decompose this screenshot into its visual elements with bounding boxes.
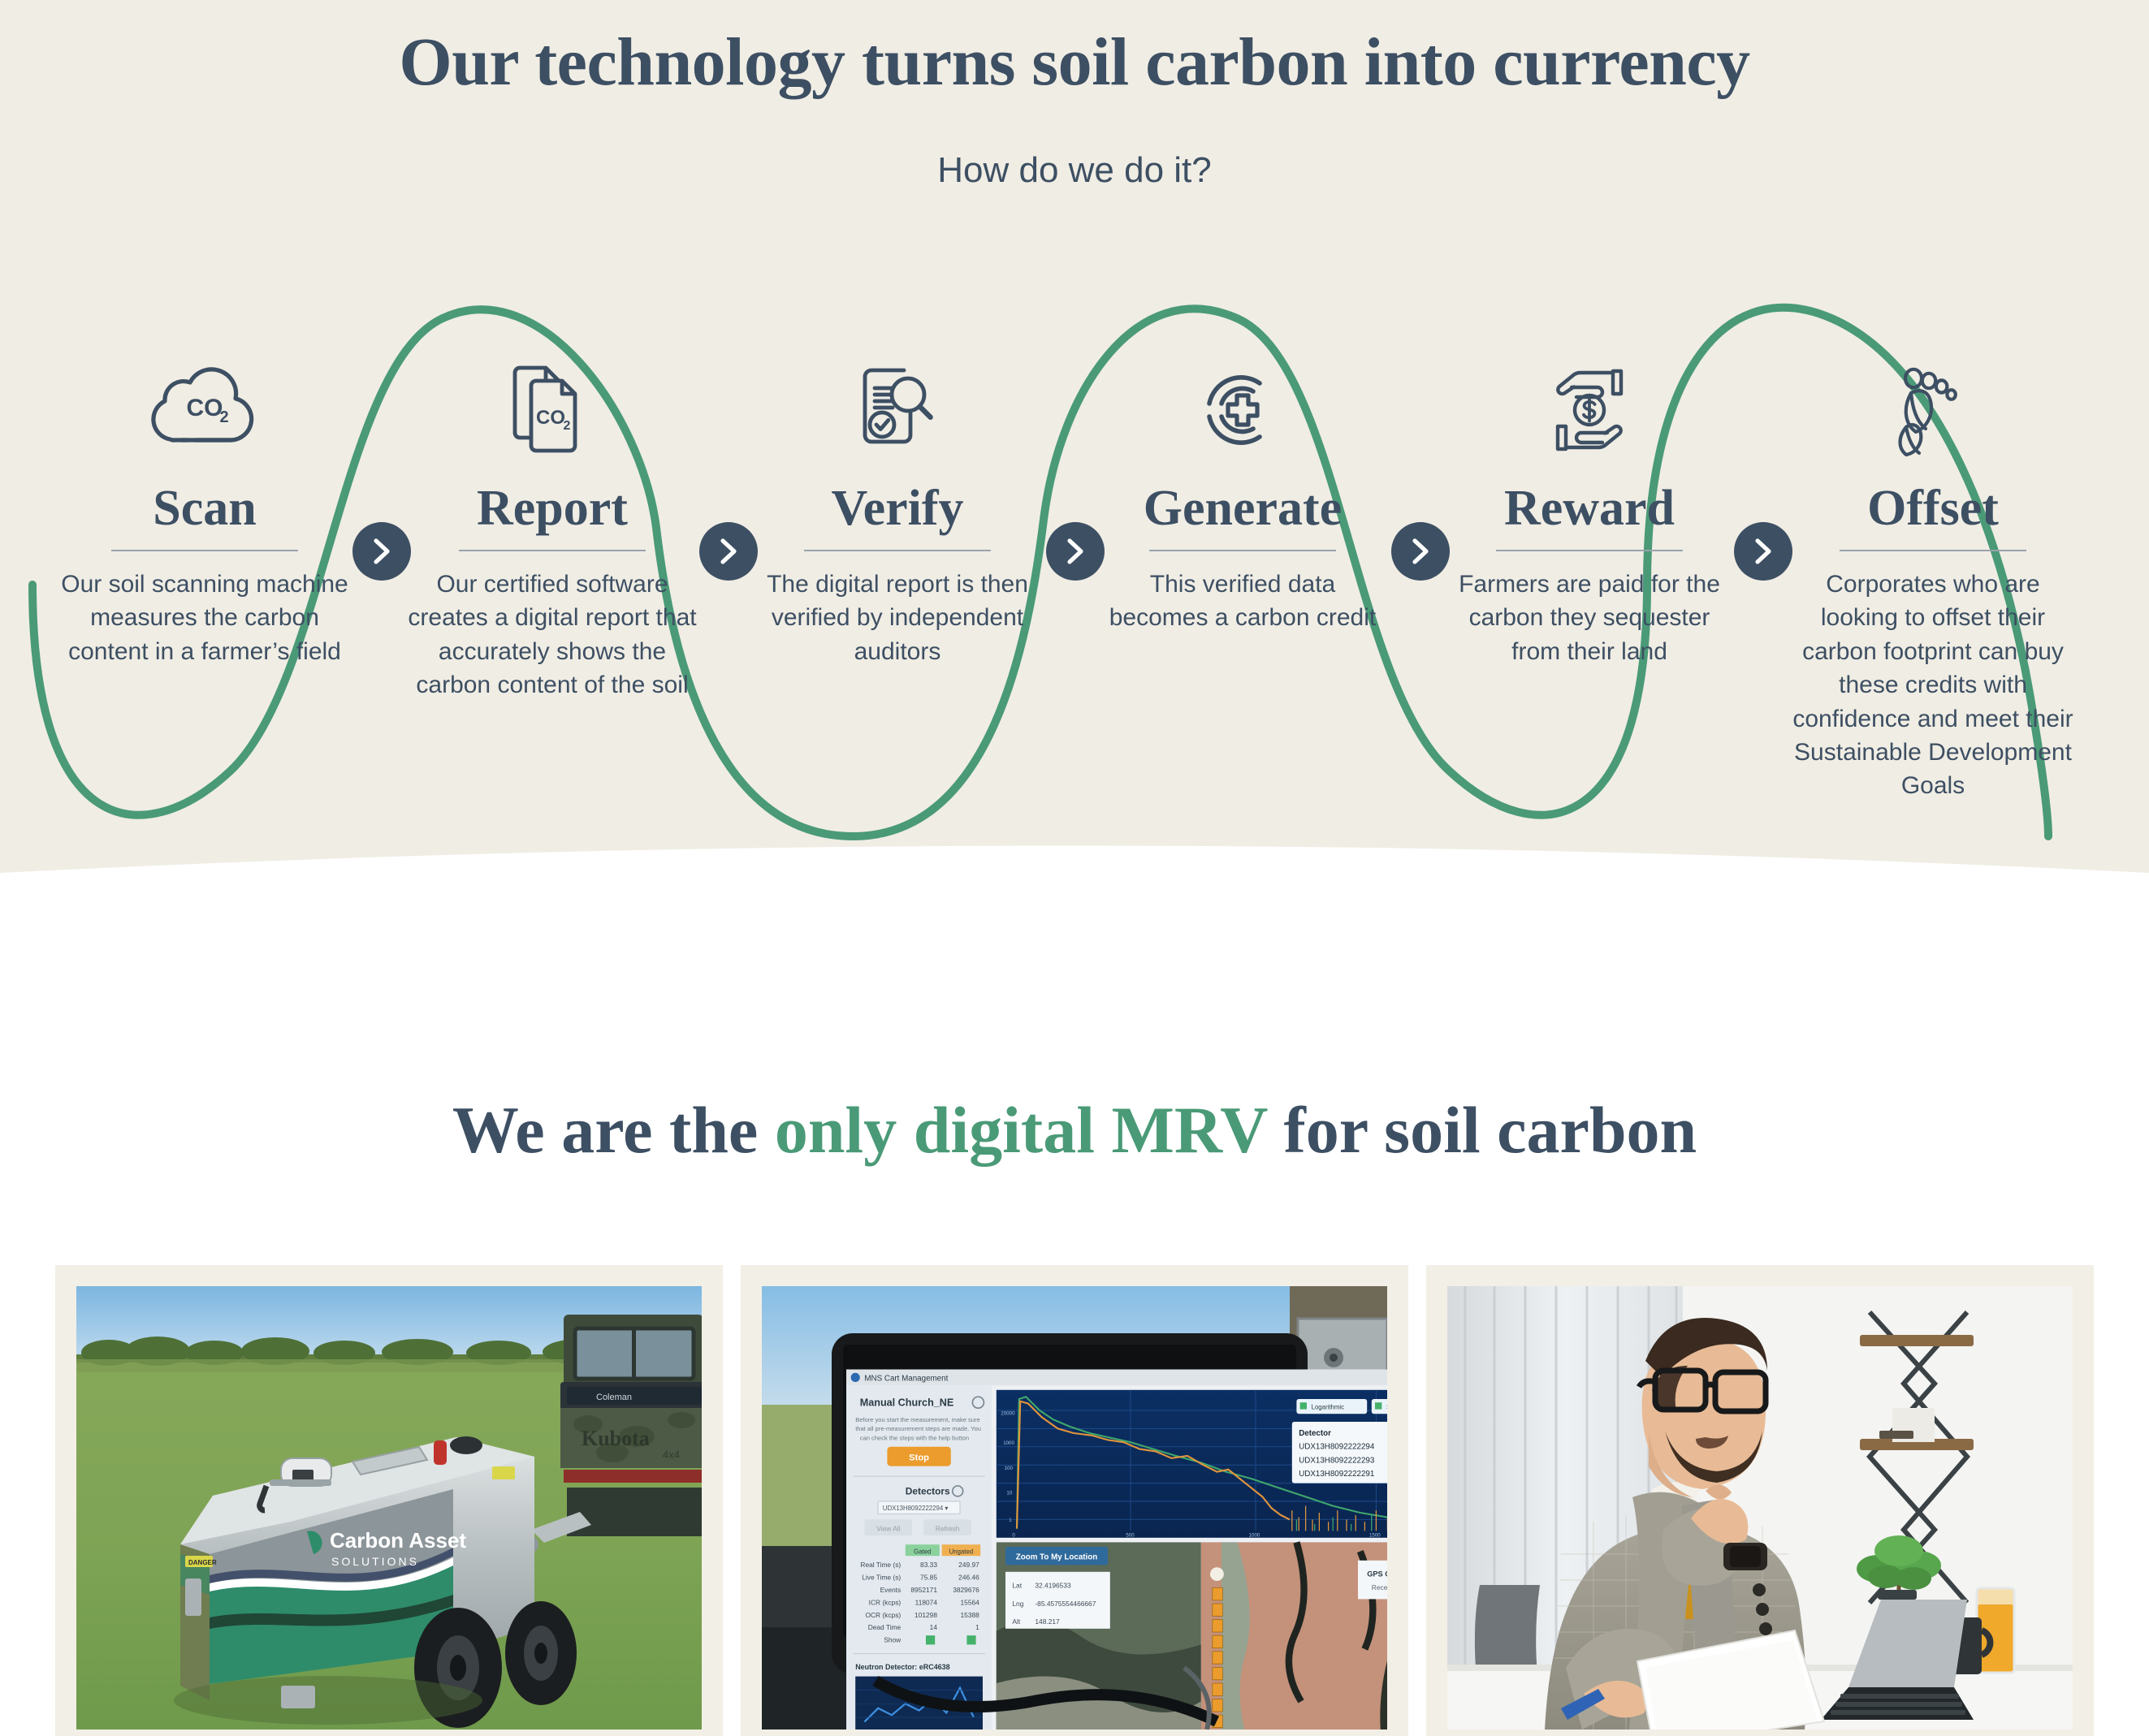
image-card-soil-scanner[interactable]: Coleman Kubota 4x4 <box>55 1265 723 1736</box>
step-description: Our soil scanning machine measures the c… <box>42 568 367 668</box>
svg-text:OCR (kcps): OCR (kcps) <box>865 1611 901 1619</box>
step-divider <box>804 550 991 551</box>
step-divider <box>1149 550 1336 551</box>
svg-text:14: 14 <box>930 1623 938 1631</box>
svg-text:Show Peak Area: Show Peak Area <box>1386 1404 1387 1411</box>
step-title: Offset <box>1771 482 2095 535</box>
section2-title: We are the only digital MRV for soil car… <box>0 1092 2149 1168</box>
step-description: The digital report is then verified by i… <box>735 568 1060 668</box>
svg-text:Coleman: Coleman <box>596 1393 632 1402</box>
svg-text:-85.4575554466667: -85.4575554466667 <box>1035 1600 1096 1608</box>
svg-text:that all pre-measurement steps: that all pre-measurement steps are made.… <box>855 1425 981 1432</box>
svg-text:32.4196533: 32.4196533 <box>1035 1581 1071 1589</box>
step-arrow-2[interactable] <box>699 522 758 581</box>
chevron-right-icon <box>716 536 741 567</box>
hands-dollar-coin-icon <box>1427 357 1752 463</box>
svg-text:Logarithmic: Logarithmic <box>1312 1404 1345 1411</box>
svg-text:249.97: 249.97 <box>958 1561 979 1569</box>
svg-text:Detector: Detector <box>1299 1429 1331 1438</box>
svg-text:8952171: 8952171 <box>910 1586 937 1594</box>
svg-text:Events: Events <box>880 1586 902 1594</box>
svg-text:4x4: 4x4 <box>663 1449 680 1461</box>
svg-text:Dead Time: Dead Time <box>868 1623 902 1631</box>
svg-text:UDX13H8092222294 ▾: UDX13H8092222294 ▾ <box>883 1505 949 1512</box>
step-title: Report <box>390 482 715 535</box>
svg-text:GPS Configuration: GPS Configuration <box>1367 1570 1387 1578</box>
page-title: Our technology turns soil carbon into cu… <box>0 23 2149 101</box>
svg-text:View All: View All <box>876 1524 900 1532</box>
svg-text:Show: Show <box>884 1636 902 1644</box>
svg-text:DANGER: DANGER <box>188 1559 217 1566</box>
image-card-corporate-buyer[interactable] <box>1426 1265 2094 1736</box>
image-card-row: Coleman Kubota 4x4 <box>0 1265 2149 1736</box>
svg-text:0: 0 <box>1012 1532 1015 1538</box>
svg-text:3829676: 3829676 <box>953 1586 979 1594</box>
image-card-cart-management-software[interactable]: RSO 24HR 431 388 218 <box>741 1265 1408 1736</box>
step-divider <box>459 550 646 551</box>
process-steps: CO 2 Scan Our soil scanning machine meas… <box>0 357 2149 861</box>
step-arrow-3[interactable] <box>1046 522 1105 581</box>
hero-section: Our technology turns soil carbon into cu… <box>0 0 2149 918</box>
svg-text:2: 2 <box>219 408 228 426</box>
svg-text:Neutron Detector: eRC4638: Neutron Detector: eRC4638 <box>855 1663 949 1671</box>
document-magnifier-check-icon <box>735 357 1060 463</box>
svg-text:1500: 1500 <box>1369 1532 1381 1538</box>
svg-text:SOLUTIONS: SOLUTIONS <box>331 1555 419 1568</box>
svg-text:Ungated: Ungated <box>949 1548 974 1555</box>
svg-text:100: 100 <box>1005 1466 1014 1471</box>
svg-text:UDX13H8092222294: UDX13H8092222294 <box>1299 1443 1375 1452</box>
step-divider <box>1840 550 2026 551</box>
svg-text:MNS Cart Management: MNS Cart Management <box>864 1375 948 1384</box>
chevron-right-icon <box>370 536 394 567</box>
step-divider <box>111 550 298 551</box>
svg-text:15388: 15388 <box>961 1611 980 1619</box>
svg-text:Lat: Lat <box>1012 1581 1022 1589</box>
svg-text:Stop: Stop <box>909 1453 929 1463</box>
svg-text:1: 1 <box>975 1623 979 1631</box>
page-root: Our technology turns soil carbon into cu… <box>0 0 2149 1736</box>
svg-text:2: 2 <box>564 419 571 433</box>
co2-documents-icon: CO 2 <box>390 357 715 463</box>
svg-text:Receiving at COM1 9600: Receiving at COM1 9600 <box>1372 1583 1387 1591</box>
svg-text:101298: 101298 <box>915 1611 937 1619</box>
svg-text:20000: 20000 <box>1001 1411 1015 1417</box>
process-step-scan: CO 2 Scan Our soil scanning machine meas… <box>42 357 367 668</box>
svg-text:1000: 1000 <box>1003 1440 1014 1446</box>
svg-text:15564: 15564 <box>961 1598 980 1606</box>
leaf-footprint-icon <box>1771 357 2095 463</box>
svg-text:Refresh: Refresh <box>936 1524 960 1532</box>
chevron-right-icon <box>1408 536 1433 567</box>
svg-text:CO: CO <box>187 395 223 421</box>
svg-text:83.33: 83.33 <box>920 1561 937 1569</box>
co2-cloud-icon: CO 2 <box>42 357 367 463</box>
svg-text:246.46: 246.46 <box>958 1574 979 1582</box>
step-title: Verify <box>735 482 1060 535</box>
step-description: Farmers are paid for the carbon they seq… <box>1427 568 1752 668</box>
step-arrow-5[interactable] <box>1734 522 1792 581</box>
svg-text:Lng: Lng <box>1012 1600 1023 1608</box>
step-description: Corporates who are looking to offset the… <box>1771 568 2095 803</box>
svg-text:10: 10 <box>1006 1491 1012 1496</box>
svg-text:118074: 118074 <box>915 1598 938 1606</box>
step-title: Reward <box>1427 482 1752 535</box>
process-step-verify: Verify The digital report is then verifi… <box>735 357 1060 668</box>
svg-text:ICR (kcps): ICR (kcps) <box>869 1598 902 1606</box>
svg-text:Before you start the measureme: Before you start the measurement, make s… <box>855 1416 980 1423</box>
section2-title-part1: We are the <box>452 1093 775 1167</box>
svg-text:Real Time (s): Real Time (s) <box>860 1561 901 1569</box>
process-step-offset: Offset Corporates who are looking to off… <box>1771 357 2095 803</box>
svg-text:Alt: Alt <box>1012 1617 1020 1626</box>
section2-title-part2: for soil carbon <box>1267 1093 1697 1167</box>
svg-text:can check the steps with the h: can check the steps with the help button <box>860 1434 969 1441</box>
section2-title-accent: only digital MRV <box>775 1093 1267 1167</box>
step-arrow-1[interactable] <box>352 522 411 581</box>
process-step-reward: Reward Farmers are paid for the carbon t… <box>1427 357 1752 668</box>
page-subtitle: How do we do it? <box>0 150 2149 191</box>
svg-text:Live Time (s): Live Time (s) <box>862 1574 901 1582</box>
corporate-buyer-photo <box>1447 1286 2073 1730</box>
svg-text:148.217: 148.217 <box>1035 1617 1060 1626</box>
svg-text:Manual Church_NE: Manual Church_NE <box>860 1397 953 1408</box>
process-step-report: CO 2 Report Our certified software creat… <box>390 357 715 702</box>
step-description: This verified data becomes a carbon cred… <box>1080 568 1405 635</box>
svg-text:1: 1 <box>1009 1518 1012 1523</box>
svg-text:UDX13H8092222291: UDX13H8092222291 <box>1299 1470 1374 1479</box>
cart-management-software-photo: RSO 24HR 431 388 218 <box>762 1286 1387 1730</box>
svg-text:500: 500 <box>1126 1532 1135 1538</box>
chevron-right-icon <box>1063 536 1087 567</box>
process-step-generate: Generate This verified data becomes a ca… <box>1080 357 1405 635</box>
step-title: Generate <box>1080 482 1405 535</box>
svg-text:Zoom To My Location: Zoom To My Location <box>1016 1552 1098 1561</box>
carbon-credit-plus-icon <box>1080 357 1405 463</box>
svg-text:75.85: 75.85 <box>920 1574 937 1582</box>
svg-text:Detectors: Detectors <box>906 1486 950 1497</box>
soil-scanning-machine-photo: Coleman Kubota 4x4 <box>76 1286 702 1730</box>
svg-text:CO: CO <box>536 407 565 429</box>
svg-text:Kubota: Kubota <box>582 1427 650 1450</box>
svg-text:Carbon Asset: Carbon Asset <box>330 1528 466 1552</box>
svg-text:1000: 1000 <box>1249 1532 1260 1538</box>
chevron-right-icon <box>1751 536 1775 567</box>
step-arrow-4[interactable] <box>1391 522 1450 581</box>
step-divider <box>1496 550 1683 551</box>
step-title: Scan <box>42 482 367 535</box>
step-description: Our certified software creates a digital… <box>390 568 715 702</box>
svg-text:Gated: Gated <box>914 1548 931 1555</box>
svg-text:UDX13H8092222293: UDX13H8092222293 <box>1299 1456 1375 1465</box>
